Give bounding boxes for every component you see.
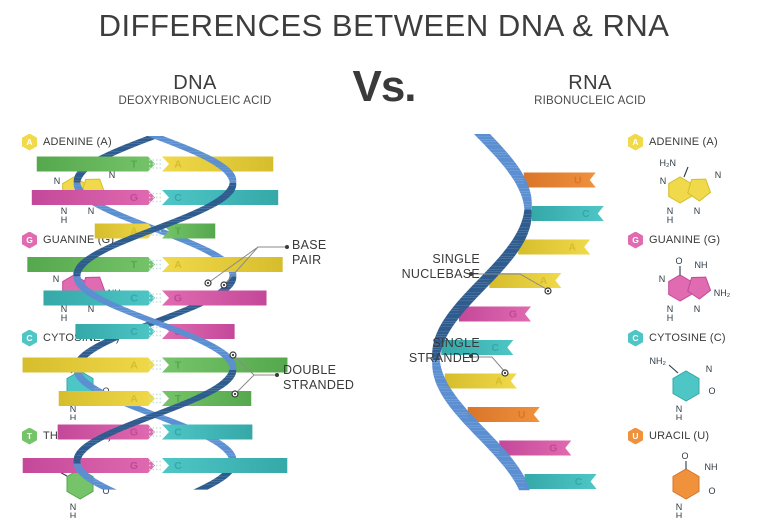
rna-base-tag: C <box>525 474 597 489</box>
dna-column-heading: DNA DEOXYRIBONUCLEIC ACID <box>100 72 290 107</box>
rna-name: RNA <box>495 72 685 94</box>
base-pair-rung: CG <box>43 291 266 306</box>
rna-base-tag: U <box>468 407 540 422</box>
callout-single-line2: STRANDED <box>380 351 480 366</box>
base-pair-rungs: TAGCATTACGCGATATGCGC <box>23 157 288 474</box>
rna-strand-svg: UCAAGCAUGC <box>420 126 650 498</box>
base-pair-rung: TA <box>37 157 274 172</box>
base-letter: T <box>175 226 182 238</box>
svg-text:H: H <box>676 511 683 518</box>
svg-text:O: O <box>675 256 682 266</box>
base-letter: T <box>131 259 138 271</box>
callout-single-line1: SINGLE <box>380 336 480 351</box>
legend-item-label: CYTOSINE (C) <box>649 332 726 344</box>
svg-text:NH: NH <box>695 260 708 270</box>
svg-text:N: N <box>659 274 666 284</box>
svg-text:H₂N: H₂N <box>660 158 677 168</box>
base-letter: G <box>130 427 138 439</box>
rna-base-tag: A <box>518 240 590 255</box>
base-letter: A <box>495 376 503 388</box>
infographic-canvas: DIFFERENCES BETWEEN DNA & RNA DNA DEOXYR… <box>0 0 768 511</box>
base-letter: G <box>130 460 138 472</box>
rna-column-heading: RNA RIBONUCLEIC ACID <box>495 72 685 107</box>
svg-text:N: N <box>706 364 713 374</box>
svg-text:O: O <box>681 451 688 461</box>
svg-text:N: N <box>660 176 667 186</box>
svg-text:H: H <box>667 215 674 224</box>
rna-base-tag: C <box>532 206 604 221</box>
base-letter: T <box>175 360 182 372</box>
dna-subtitle: DEOXYRIBONUCLEIC ACID <box>100 95 290 107</box>
callout-double-stranded: DOUBLE STRANDED <box>283 363 363 394</box>
base-letter: C <box>492 342 500 354</box>
base-letter: U <box>574 175 582 187</box>
base-letter: A <box>174 259 182 271</box>
rna-base-tag: A <box>489 273 561 288</box>
rna-single-strand-illustration: UCAAGCAUGC <box>420 126 650 498</box>
base-pair-rung: GC <box>58 425 253 440</box>
base-letter: C <box>575 476 583 488</box>
base-letter: A <box>568 242 576 254</box>
base-pair-rung: AT <box>59 391 252 406</box>
base-letter: A <box>130 393 138 405</box>
base-letter: G <box>174 293 182 305</box>
rna-base-tag: A <box>445 374 517 389</box>
svg-text:H: H <box>676 413 683 420</box>
base-letter: C <box>174 427 182 439</box>
legend-item-label: URACIL (U) <box>649 430 709 442</box>
base-letter: G <box>509 309 517 321</box>
callout-base-pair-line1: BASE <box>292 238 362 253</box>
base-letter: U <box>518 409 526 421</box>
svg-text:N: N <box>694 304 701 314</box>
base-pair-rung: TA <box>27 257 282 272</box>
base-letter: C <box>174 192 182 204</box>
base-pair-rung: GC <box>23 458 288 473</box>
rna-base-tag: G <box>459 307 531 322</box>
legend-item-label: GUANINE (G) <box>649 234 720 246</box>
svg-text:N: N <box>715 170 722 180</box>
base-letter: A <box>174 159 182 171</box>
callout-base-pair-line2: PAIR <box>292 253 362 268</box>
base-letter: A <box>540 275 548 287</box>
svg-text:NH₂: NH₂ <box>650 356 667 366</box>
base-letter: G <box>130 192 138 204</box>
callout-single-stranded: SINGLE STRANDED <box>380 336 480 367</box>
svg-text:NH: NH <box>705 462 718 472</box>
callout-double-line2: STRANDED <box>283 378 363 393</box>
page-title: DIFFERENCES BETWEEN DNA & RNA <box>0 8 768 44</box>
callout-single-nucleobase: SINGLE NUCLEBASE <box>395 252 480 283</box>
callout-nucleobase-line2: NUCLEBASE <box>395 267 480 282</box>
callout-nucleobase-line1: SINGLE <box>395 252 480 267</box>
rna-subtitle: RIBONUCLEIC ACID <box>495 95 685 107</box>
callout-base-pair: BASE PAIR <box>292 238 362 269</box>
dna-name: DNA <box>100 72 290 94</box>
svg-text:H: H <box>70 511 77 518</box>
svg-text:O: O <box>708 486 715 496</box>
legend-item-label: ADENINE (A) <box>649 136 718 148</box>
base-pair-rung: CG <box>75 324 234 339</box>
base-letter: A <box>130 360 138 372</box>
dna-double-helix-illustration: TAGCATTACGCGATATGCGC <box>20 126 340 498</box>
dna-helix-svg: TAGCATTACGCGATATGCGC <box>20 126 340 498</box>
base-letter: C <box>130 293 138 305</box>
base-pair-rung: AT <box>23 358 288 373</box>
rna-base-tag: U <box>524 173 596 188</box>
base-letter: C <box>130 326 138 338</box>
svg-text:N: N <box>694 206 701 216</box>
svg-text:O: O <box>708 386 715 396</box>
svg-text:NH₂: NH₂ <box>714 288 731 298</box>
base-letter: T <box>131 159 138 171</box>
base-letter: G <box>549 443 557 455</box>
callout-double-line1: DOUBLE <box>283 363 363 378</box>
base-letter: C <box>174 460 182 472</box>
svg-text:H: H <box>667 313 674 322</box>
rna-base-tag: G <box>499 441 571 456</box>
base-letter: C <box>582 208 590 220</box>
versus-label: Vs. <box>330 62 438 112</box>
base-pair-rung: GC <box>32 190 278 205</box>
